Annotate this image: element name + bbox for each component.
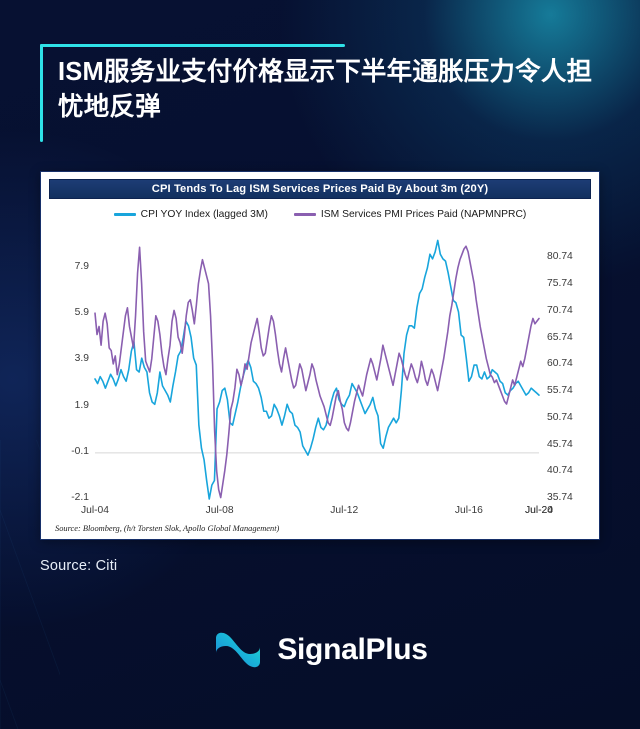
y-axis-right-tick: 55.74 xyxy=(547,385,595,396)
legend-label-cpi: CPI YOY Index (lagged 3M) xyxy=(141,209,268,220)
source-credit: Source: Citi xyxy=(40,558,117,574)
y-axis-left-tick: 3.9 xyxy=(49,353,89,364)
signalplus-wave-logo-icon xyxy=(212,624,264,676)
y-axis-right-tick: 50.74 xyxy=(547,412,595,423)
x-axis-tick: Jul-24 xyxy=(509,505,569,516)
legend-swatch-ism xyxy=(294,213,316,216)
x-axis-tick: Jul-08 xyxy=(190,505,250,516)
chart-footnote: Source: Bloomberg, (h/t Torsten Slok, Ap… xyxy=(55,524,279,533)
y-axis-right-tick: 40.74 xyxy=(547,465,595,476)
legend-swatch-cpi xyxy=(114,213,136,216)
x-axis-tick: Jul-04 xyxy=(65,505,125,516)
y-axis-left-tick: -2.1 xyxy=(49,492,89,503)
chart-legend: CPI YOY Index (lagged 3M) ISM Services P… xyxy=(49,201,591,227)
chart-title: CPI Tends To Lag ISM Services Prices Pai… xyxy=(49,179,591,199)
accent-rule-left xyxy=(40,44,43,142)
y-axis-left-tick: 7.9 xyxy=(49,261,89,272)
legend-label-ism: ISM Services PMI Prices Paid (NAPMNPRC) xyxy=(321,209,526,220)
y-axis-left-tick: -0.1 xyxy=(49,446,89,457)
y-axis-right-tick: 70.74 xyxy=(547,305,595,316)
y-axis-right-tick: 80.74 xyxy=(547,251,595,262)
y-axis-right-tick: 65.74 xyxy=(547,332,595,343)
chart-card: CPI Tends To Lag ISM Services Prices Pai… xyxy=(40,171,600,540)
page-title: ISM服务业支付价格显示下半年通胀压力令人担忧地反弹 xyxy=(58,44,598,124)
brand-name: SignalPlus xyxy=(277,633,427,667)
legend-item-ism: ISM Services PMI Prices Paid (NAPMNPRC) xyxy=(294,209,526,220)
headline-block: ISM服务业支付价格显示下半年通胀压力令人担忧地反弹 xyxy=(40,44,600,124)
y-axis-right-tick: 75.74 xyxy=(547,278,595,289)
x-axis-tick: Jul-16 xyxy=(439,505,499,516)
y-axis-right-tick: 60.74 xyxy=(547,358,595,369)
y-axis-left-tick: 5.9 xyxy=(49,307,89,318)
infographic-root: ISM服务业支付价格显示下半年通胀压力令人担忧地反弹 CPI Tends To … xyxy=(0,0,640,729)
chart-canvas xyxy=(49,229,593,529)
y-axis-left-tick: 1.9 xyxy=(49,400,89,411)
accent-rule-top xyxy=(40,44,345,47)
x-axis-tick: Jul-12 xyxy=(314,505,374,516)
y-axis-right-tick: 35.74 xyxy=(547,492,595,503)
legend-item-cpi: CPI YOY Index (lagged 3M) xyxy=(114,209,268,220)
chart-plot-area: 7.95.93.91.9-0.1-2.180.7475.7470.7465.74… xyxy=(49,229,593,529)
brand-lockup: SignalPlus xyxy=(0,624,640,676)
y-axis-right-tick: 45.74 xyxy=(547,439,595,450)
